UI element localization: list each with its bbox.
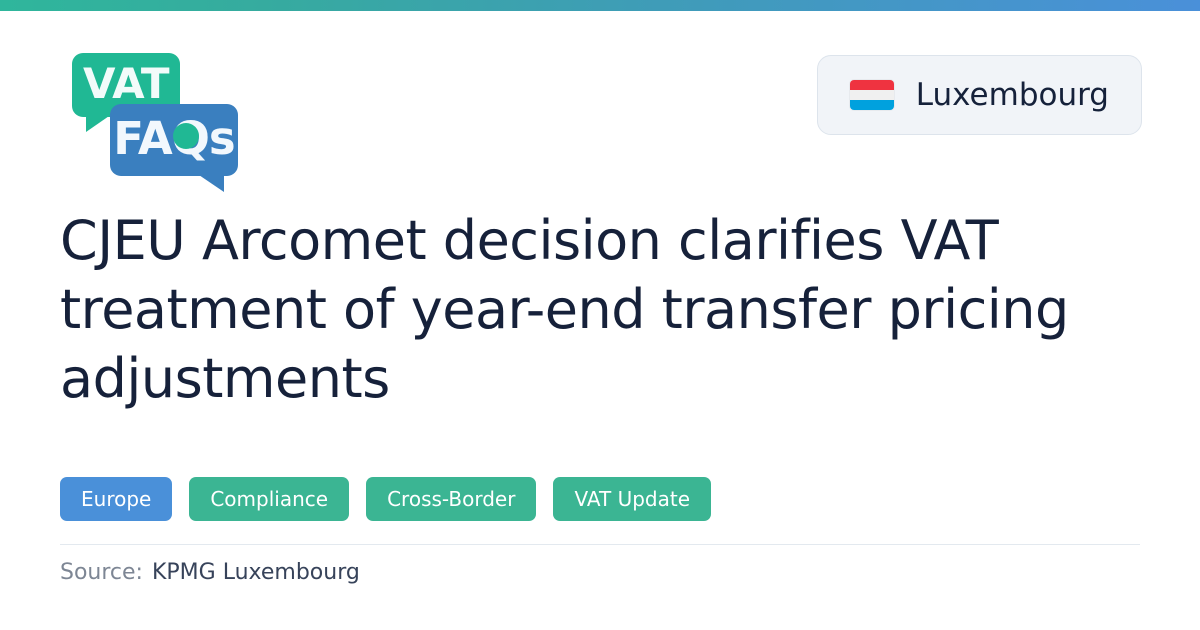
vatfaqs-logo[interactable]: VAT FAQs bbox=[64, 44, 239, 164]
country-badge[interactable]: Luxembourg bbox=[817, 55, 1142, 135]
country-name: Luxembourg bbox=[916, 77, 1109, 113]
logo-bubble-faqs: FAQs bbox=[110, 104, 238, 176]
top-gradient-bar bbox=[0, 0, 1200, 11]
tag-vat-update[interactable]: VAT Update bbox=[553, 477, 711, 521]
tag-cross-border[interactable]: Cross-Border bbox=[366, 477, 536, 521]
page-title: CJEU Arcomet decision clarifies VAT trea… bbox=[60, 206, 1120, 413]
tag-list: Europe Compliance Cross-Border VAT Updat… bbox=[60, 477, 711, 521]
source-value: KPMG Luxembourg bbox=[152, 560, 360, 585]
source-line: Source: KPMG Luxembourg bbox=[60, 560, 360, 585]
tag-compliance[interactable]: Compliance bbox=[189, 477, 349, 521]
tag-europe[interactable]: Europe bbox=[60, 477, 172, 521]
card-header: VAT FAQs Luxembourg bbox=[0, 11, 1200, 161]
logo-bubble-vat-tail bbox=[86, 114, 112, 132]
social-share-card: VAT FAQs Luxembourg CJEU Arcomet decisio… bbox=[0, 0, 1200, 630]
source-label: Source: bbox=[60, 560, 143, 585]
logo-bubble-faqs-tail bbox=[196, 173, 224, 192]
luxembourg-flag-icon bbox=[850, 80, 894, 110]
logo-text-faqs: FAQs bbox=[110, 104, 238, 176]
footer-divider bbox=[60, 544, 1140, 545]
